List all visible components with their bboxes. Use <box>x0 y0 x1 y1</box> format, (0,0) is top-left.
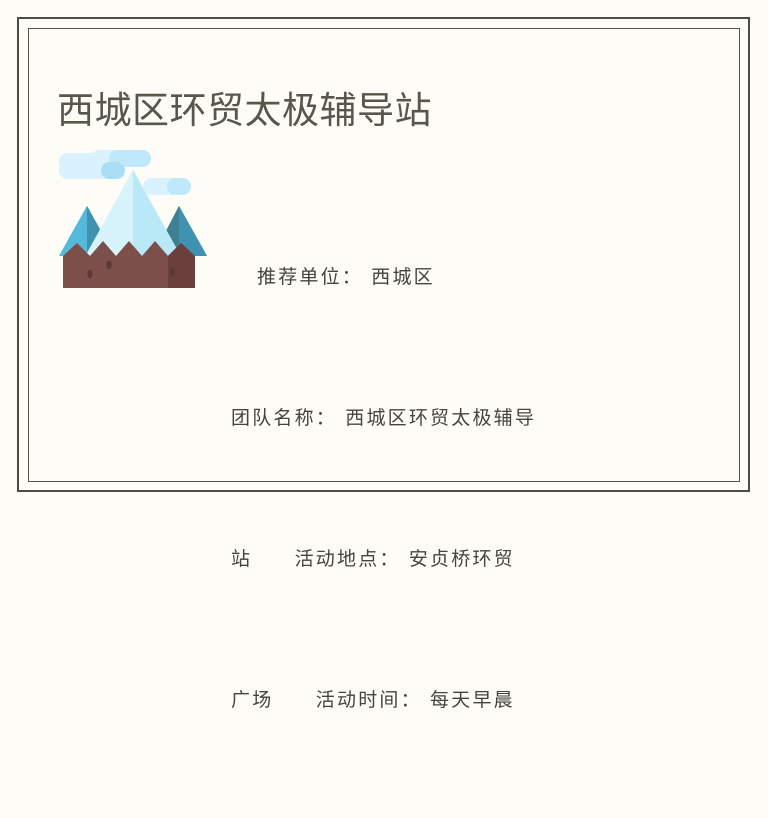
page-root: 西城区环贸太极辅导站 <box>0 0 768 510</box>
detail-line-recommending-unit: 推荐单位： 西城区 <box>231 254 651 301</box>
article-content: 推荐单位： 西城区 团队名称： 西城区环贸太极辅导 站 活动地点： 安贞桥环贸 … <box>0 0 768 510</box>
activity-details: 推荐单位： 西城区 团队名称： 西城区环贸太极辅导 站 活动地点： 安贞桥环贸 … <box>231 160 651 818</box>
mountain-icon <box>57 148 210 296</box>
detail-line-team-name: 团队名称： 西城区环贸太极辅导 <box>231 395 651 442</box>
detail-line-activity-location: 站 活动地点： 安贞桥环贸 <box>231 536 651 583</box>
detail-line-activity-time: 广场 活动时间： 每天早晨 <box>231 677 651 724</box>
